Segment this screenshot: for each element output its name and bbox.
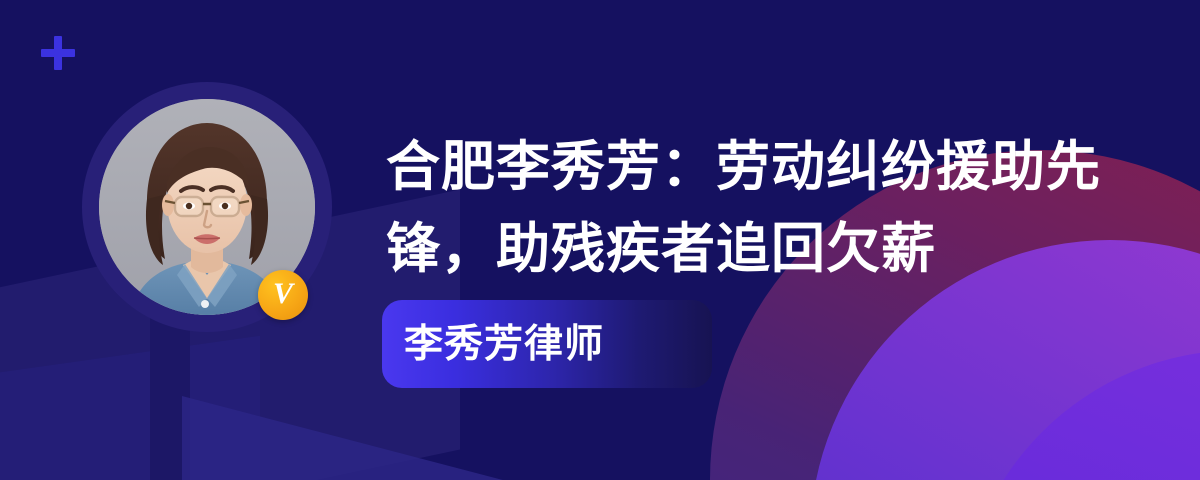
banner-canvas: V 合肥李秀芳：劳动纠纷援助先锋，助残疾者追回欠薪 李秀芳律师: [0, 0, 1200, 480]
plus-decoration-icon: [41, 36, 75, 70]
lawyer-name-label: 李秀芳律师: [404, 325, 604, 364]
verified-v-icon: V: [258, 270, 308, 320]
avatar: V: [82, 82, 332, 332]
page-title: 合肥李秀芳：劳动纠纷援助先锋，助残疾者追回欠薪: [386, 126, 1176, 290]
lawyer-name-badge[interactable]: 李秀芳律师: [382, 300, 712, 388]
verified-v-glyph: V: [273, 279, 293, 309]
